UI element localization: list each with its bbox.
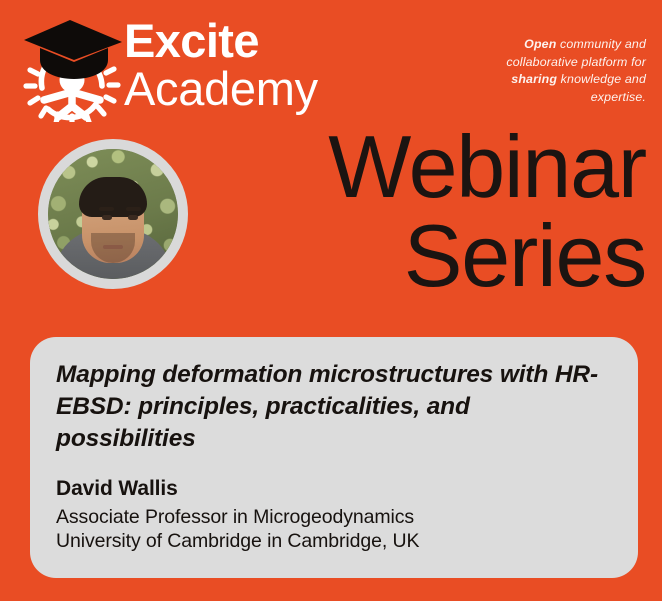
talk-info-card: Mapping deformation microstructures with… bbox=[30, 337, 638, 578]
speaker-block: David Wallis Associate Professor in Micr… bbox=[56, 477, 612, 554]
graduation-cap-people-icon bbox=[18, 16, 126, 122]
portrait-brow-right bbox=[126, 207, 141, 211]
avatar bbox=[38, 139, 188, 289]
tagline-rest-3: knowledge and bbox=[557, 72, 646, 86]
webinar-poster: Excite Academy Open community and collab… bbox=[0, 0, 662, 601]
wordmark-academy: Academy bbox=[124, 66, 354, 112]
portrait-brow-left bbox=[99, 207, 114, 211]
portrait-mouth bbox=[103, 245, 123, 249]
wordmark-excite: Excite bbox=[124, 18, 354, 64]
talk-title: Mapping deformation microstructures with… bbox=[56, 359, 612, 455]
speaker-affiliation: University of Cambridge in Cambridge, UK bbox=[56, 529, 612, 553]
portrait-hair bbox=[79, 177, 147, 217]
series-heading-line-webinar: Webinar bbox=[186, 124, 646, 209]
tagline-line-3: sharing knowledge and bbox=[416, 71, 646, 89]
series-heading-line-series: Series bbox=[186, 213, 646, 298]
brand-tagline: Open community and collaborative platfor… bbox=[416, 36, 646, 106]
brand-wordmark: Excite Academy bbox=[124, 18, 354, 112]
tagline-line-1: Open community and bbox=[416, 36, 646, 54]
tagline-line-2: collaborative platform for bbox=[416, 54, 646, 72]
tagline-bold-sharing: sharing bbox=[511, 72, 557, 86]
portrait-eye-left bbox=[102, 215, 112, 220]
speaker-name: David Wallis bbox=[56, 477, 612, 502]
series-heading: Webinar Series bbox=[186, 124, 646, 299]
tagline-line-4: expertise. bbox=[416, 89, 646, 107]
portrait-eye-right bbox=[128, 215, 138, 220]
speaker-role: Associate Professor in Microgeodynamics bbox=[56, 505, 612, 529]
tagline-rest-1: community and bbox=[556, 37, 646, 51]
brand-logo: Excite Academy bbox=[18, 14, 348, 126]
tagline-bold-open: Open bbox=[524, 37, 556, 51]
speaker-portrait-photo bbox=[48, 149, 178, 279]
